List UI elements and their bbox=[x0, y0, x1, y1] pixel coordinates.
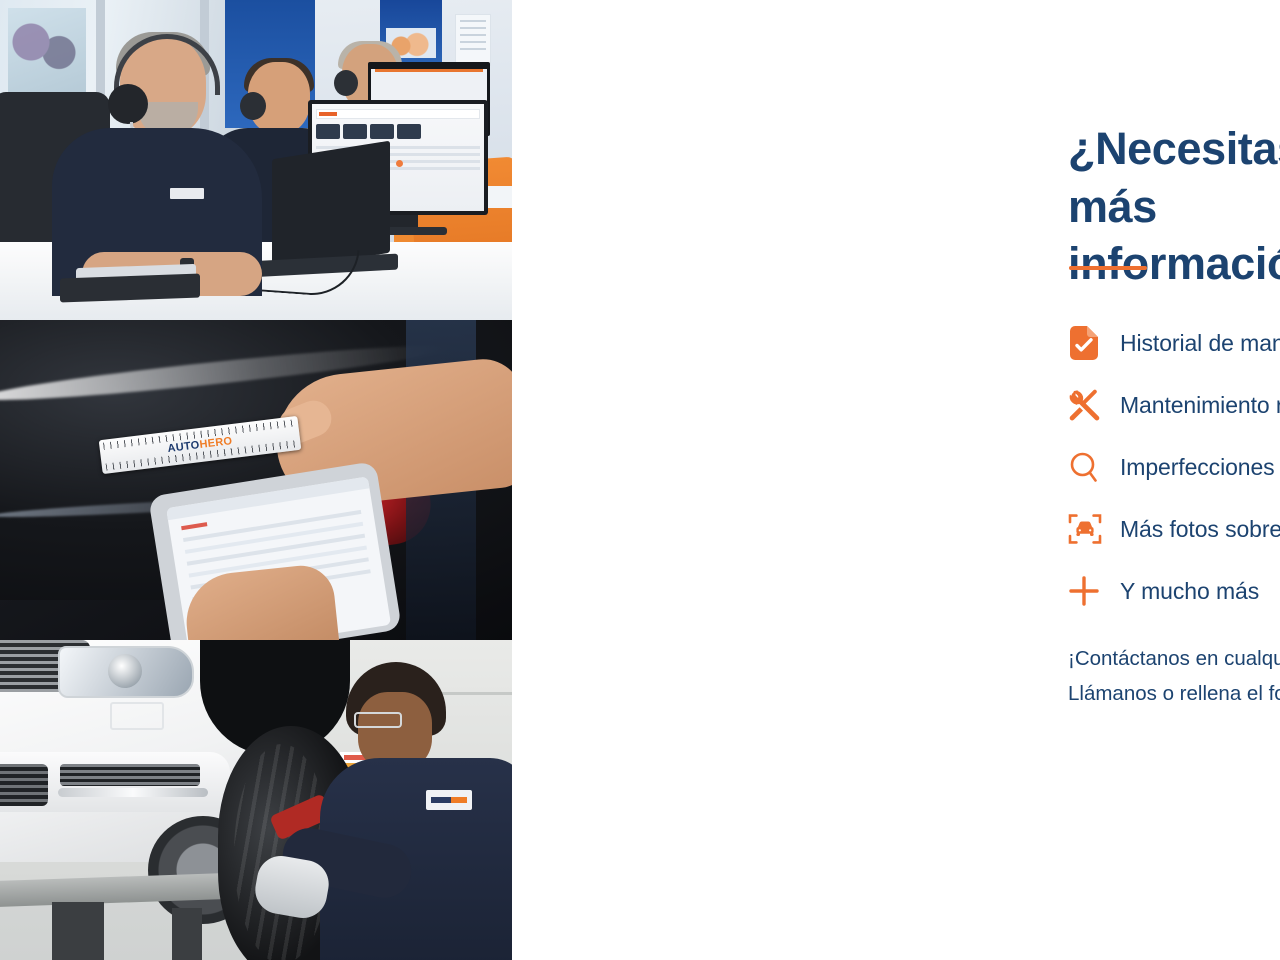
license-plate-area bbox=[110, 702, 164, 730]
uniform-logo-patch bbox=[426, 790, 472, 810]
lift-post bbox=[172, 908, 202, 960]
feature-label: Mantenimiento realizado bbox=[1120, 392, 1280, 419]
feature-list: Historial de mantenimientos bbox=[1068, 312, 1280, 622]
chrome-trim bbox=[58, 788, 208, 797]
feature-label: Imperfecciones bbox=[1120, 454, 1275, 481]
feature-label: Historial de mantenimientos bbox=[1120, 330, 1280, 357]
uniform-logo-patch bbox=[170, 188, 204, 199]
plus-icon bbox=[1068, 575, 1120, 607]
safety-glasses bbox=[354, 712, 402, 728]
feature-item-imperfecciones: Imperfecciones bbox=[1068, 436, 1280, 498]
agent-foreground bbox=[52, 36, 268, 288]
contact-text: ¡Contáctanos en cualquier momento para m… bbox=[1068, 641, 1280, 712]
bumper-vent bbox=[0, 764, 48, 806]
feature-item-mas-fotos: Más fotos sobre el coche bbox=[1068, 498, 1280, 560]
content-panel: ¿Necesitas más información? Estamos enca… bbox=[512, 0, 1280, 960]
feature-item-historial: Historial de mantenimientos bbox=[1068, 312, 1280, 374]
feature-label: Y mucho más bbox=[1120, 578, 1259, 605]
wall-sheet bbox=[455, 14, 491, 66]
magnifier-icon bbox=[1068, 451, 1120, 483]
car-headlight bbox=[58, 646, 194, 698]
wrench-screwdriver-icon bbox=[1068, 388, 1120, 422]
feature-label: Más fotos sobre el coche bbox=[1120, 516, 1280, 543]
car-paint-inspection-photo: AUTOHERO bbox=[0, 320, 512, 640]
workshop-technician bbox=[330, 662, 512, 960]
lift-post bbox=[52, 902, 104, 960]
car-frame-photo-icon bbox=[1068, 512, 1120, 546]
call-center-agents-photo bbox=[0, 0, 512, 320]
need-more-info-promo-page: AUTOHERO bbox=[0, 0, 1280, 960]
bumper-grille bbox=[60, 764, 200, 786]
workshop-wheel-check-photo bbox=[0, 640, 512, 960]
tablet-on-desk bbox=[60, 274, 200, 303]
photo-column: AUTOHERO bbox=[0, 0, 512, 960]
feature-item-mantenimiento: Mantenimiento realizado bbox=[1068, 374, 1280, 436]
feature-item-mucho-mas: Y mucho más bbox=[1068, 560, 1280, 622]
title-underline-rule bbox=[1069, 266, 1147, 270]
document-check-icon bbox=[1068, 326, 1120, 360]
